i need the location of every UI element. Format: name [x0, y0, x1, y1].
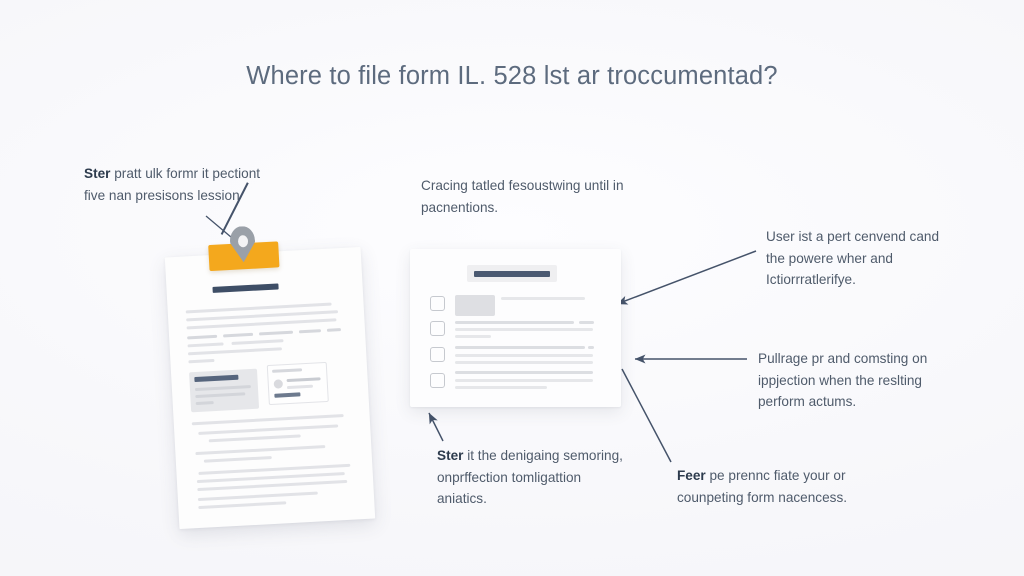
form-header-field [467, 265, 557, 282]
annotation-mid-top-body: Cracing tatled fesoustwing until in pacn… [421, 178, 624, 215]
form-header-bar [474, 271, 550, 277]
document-heading-bar [212, 283, 278, 293]
annotation-bottom-mid-body: it the denigaing semoring, onprffection … [437, 448, 623, 506]
arrow-botmid-to-card [429, 413, 443, 441]
arrow-righttop-to-card [617, 251, 756, 304]
checkbox-row-1[interactable] [430, 296, 445, 311]
annotation-bottom-mid: Ster it the denigaing semoring, onprffec… [437, 445, 632, 510]
annotation-bottom-right: Feer pe prennc fiate your or counpeting … [677, 465, 852, 508]
form-row-1-line [501, 297, 585, 300]
page-title: Where to file form IL. 528 lst ar troccu… [0, 62, 1024, 91]
annotation-bottom-mid-lead: Ster [437, 448, 463, 463]
checkbox-row-3[interactable] [430, 347, 445, 362]
checkbox-row-4[interactable] [430, 373, 445, 388]
annotation-right-top-body: User ist a pert cenvend cand the powere … [766, 229, 939, 287]
checkbox-row-2[interactable] [430, 321, 445, 336]
avatar [274, 379, 283, 388]
annotation-right-mid: Pullrage pr and comsting on ippjection w… [758, 348, 953, 413]
annotation-left-lead: Ster [84, 166, 110, 181]
illustration-canvas: Where to file form IL. 528 lst ar troccu… [0, 0, 1024, 576]
document-inset-panel-right [267, 362, 329, 405]
annotation-left: Ster pratt ulk formr it pectiont five na… [84, 163, 269, 206]
annotation-right-top: User ist a pert cenvend cand the powere … [766, 226, 956, 291]
annotation-right-mid-body: Pullrage pr and comsting on ippjection w… [758, 351, 927, 409]
clipped-paper-document [165, 247, 375, 529]
document-inset-panel-left [189, 369, 259, 413]
annotation-left-body: pratt ulk formr it pectiont five nan pre… [84, 166, 260, 203]
document-page [165, 247, 375, 529]
checklist-form-card [410, 249, 621, 407]
annotation-mid-top: Cracing tatled fesoustwing until in pacn… [421, 175, 636, 218]
annotation-bottom-right-lead: Feer [677, 468, 706, 483]
form-row-1-block [455, 295, 495, 316]
